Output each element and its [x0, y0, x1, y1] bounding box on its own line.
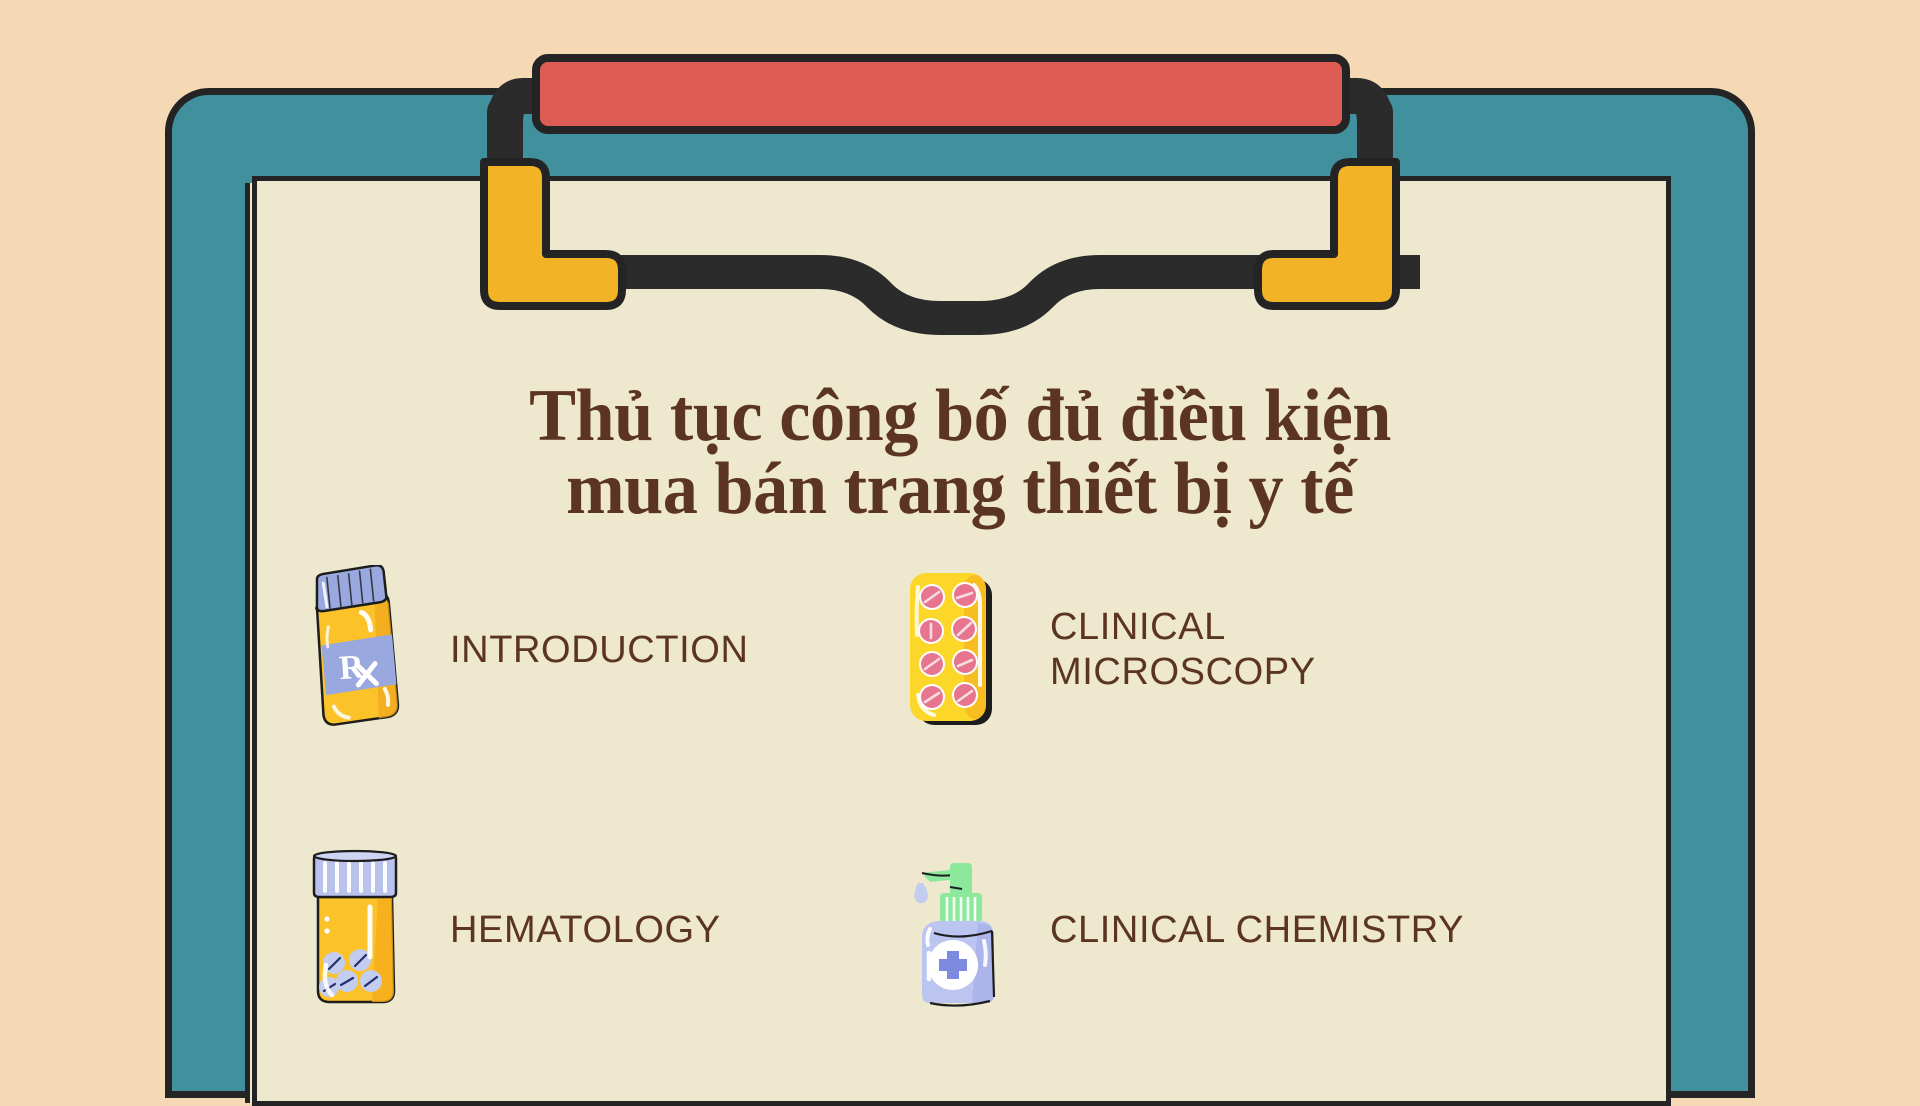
menu-item-clinical-chemistry[interactable]: CLINICAL CHEMISTRY — [880, 845, 1480, 1015]
page-title: Thủ tục công bố đủ điều kiện mua bán tra… — [390, 380, 1530, 527]
hand-sanitizer-bottle-icon — [880, 845, 1030, 1015]
pill-bottle-icon — [280, 845, 430, 1015]
slide-canvas: Thủ tục công bố đủ điều kiện mua bán tra… — [0, 0, 1920, 1080]
clip-elbow-left — [484, 162, 622, 306]
menu-row-2: HEMATOLOGY — [280, 845, 1600, 1015]
menu-item-label: INTRODUCTION — [450, 628, 749, 673]
page-title-line-1: Thủ tục công bố đủ điều kiện — [390, 380, 1530, 453]
page-title-line-2: mua bán trang thiết bị y tế — [390, 453, 1530, 526]
clip-red-bar — [536, 58, 1346, 130]
menu-item-label: CLINICAL CHEMISTRY — [1050, 908, 1464, 953]
medicine-bottle-rx-icon: R — [280, 565, 430, 735]
clip-elbow-right — [1258, 162, 1396, 306]
menu-item-label: CLINICAL MICROSCOPY — [1050, 605, 1316, 695]
menu-row-1: R — [280, 565, 1600, 735]
menu-item-clinical-microscopy[interactable]: CLINICAL MICROSCOPY — [880, 565, 1480, 735]
clipboard-clip-assembly — [0, 0, 1920, 400]
menu-item-label: HEMATOLOGY — [450, 908, 721, 953]
menu-item-hematology[interactable]: HEMATOLOGY — [280, 845, 880, 1015]
menu-item-introduction[interactable]: R — [280, 565, 880, 735]
menu-list: R — [280, 565, 1600, 1015]
pill-blister-pack-icon — [880, 565, 1030, 735]
